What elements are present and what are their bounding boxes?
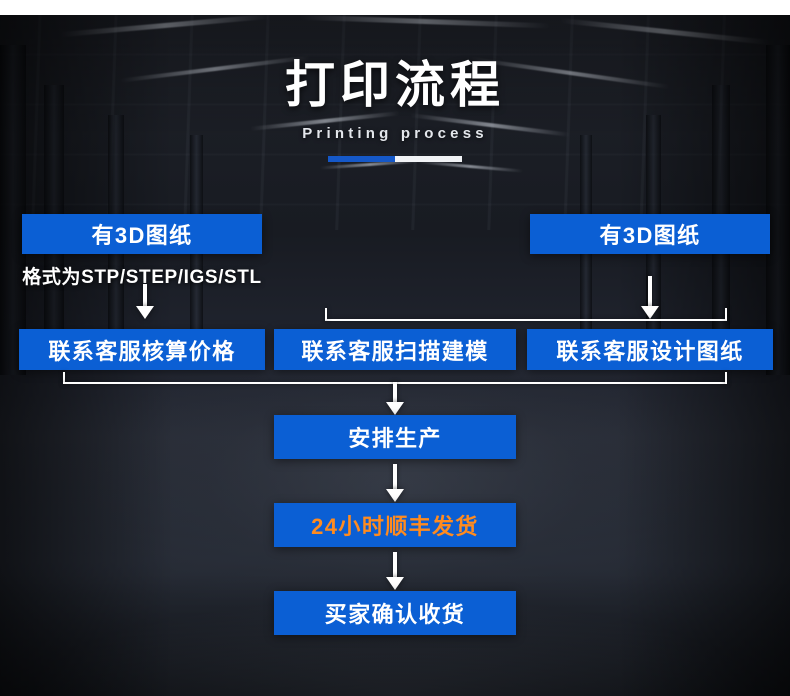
arrow-down-to-shipping (378, 464, 412, 502)
arrow-down-to-production (378, 382, 412, 415)
flow-node-contact-service-scan-model[interactable]: 联系客服扫描建模 (274, 329, 516, 370)
bracket-top-left-tick (325, 308, 327, 320)
page-title: 打印流程 (0, 58, 790, 113)
flow-node-buyer-confirm-receipt[interactable]: 买家确认收货 (274, 591, 516, 635)
arrow-down-to-confirm-receipt (378, 552, 412, 590)
underline-segment-blue (328, 156, 395, 162)
page-subtitle: Printing process (0, 125, 790, 142)
arrow-down-left-top (128, 284, 162, 319)
flow-node-arrange-production[interactable]: 安排生产 (274, 415, 516, 459)
printing-process-infographic: 打印流程 Printing process 有3D图纸 有3D图纸 格式为STP… (0, 0, 790, 696)
flow-node-contact-service-design-drawing[interactable]: 联系客服设计图纸 (527, 329, 773, 370)
bracket-top-horizontal (325, 319, 727, 321)
bracket-top-right-tick (725, 308, 727, 320)
flow-node-has-3d-drawing-right[interactable]: 有3D图纸 (530, 214, 770, 254)
underline-segment-white (395, 156, 462, 162)
title-underline (328, 156, 462, 162)
merge-bracket-right-tick (725, 372, 727, 384)
header: 打印流程 Printing process (0, 58, 790, 162)
flow-node-has-3d-drawing-left[interactable]: 有3D图纸 (22, 214, 262, 254)
flow-node-24h-sf-express-shipping[interactable]: 24小时顺丰发货 (274, 503, 516, 547)
arrow-down-right-top (633, 276, 667, 319)
flow-node-contact-service-quote[interactable]: 联系客服核算价格 (19, 329, 265, 370)
